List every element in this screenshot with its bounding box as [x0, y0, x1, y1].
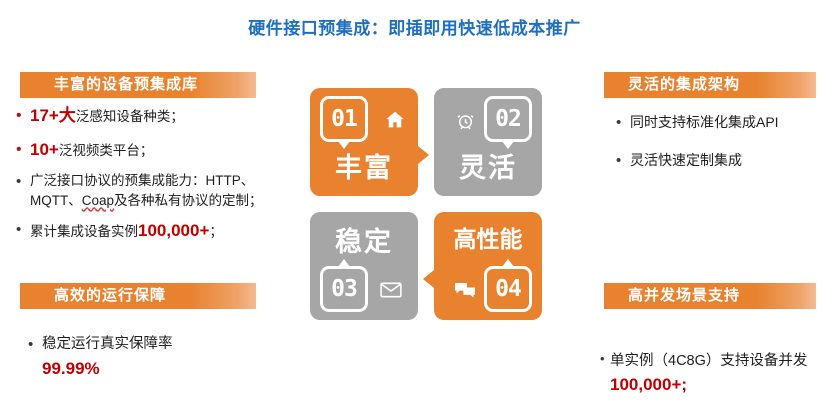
quadrant-01[interactable]: 01 丰富 [310, 88, 418, 196]
bullet-list-library: • 17+大泛感知设备种类； • 10+泛视频类平台； • 广泛接口协议的预集成… [16, 104, 288, 253]
list-item-text: 累计集成设备实例100,000+； [30, 219, 223, 244]
bullet-marker: • [16, 138, 30, 161]
quadrant-number-01: 01 [320, 96, 368, 142]
metric-value: 100,000+; [610, 375, 687, 394]
bullet-marker: • [16, 104, 30, 127]
metric-value: 99.99% [42, 359, 100, 378]
list-item-text: 单实例（4C8G）支持设备并发100,000+; [610, 350, 826, 399]
quadrant-02[interactable]: 02 灵活 [434, 88, 542, 196]
quadrant-03[interactable]: 03 稳定 [310, 212, 418, 320]
list-item-text: 17+大泛感知设备种类； [30, 104, 184, 129]
item-head: 单实例（4C8G）支持设备并发 [610, 353, 807, 369]
alarm-clock-icon [442, 98, 488, 142]
quadrant-label-01: 丰富 [310, 146, 418, 185]
item-tail: 泛视频类平台； [59, 143, 154, 158]
list-item-text: 同时支持标准化集成API [630, 112, 779, 132]
list-item-text: 稳定运行真实保障率99.99% [42, 334, 173, 382]
quadrant-label-02: 灵活 [434, 146, 542, 185]
section-header-concurrency: 高并发场景支持 [604, 283, 816, 309]
item-tail: 泛感知设备种类； [76, 109, 184, 124]
item-head: 稳定运行真实保障率 [42, 336, 173, 352]
metric-value: 10+ [30, 140, 59, 159]
list-item-text: 10+泛视频类平台； [30, 138, 153, 163]
list-item: • 17+大泛感知设备种类； [16, 104, 288, 129]
metric-value: 17+ [30, 106, 59, 125]
slide-canvas: 硬件接口预集成：即插即用快速低成本推广 丰富的设备预集成库 • 17+大泛感知设… [0, 0, 829, 415]
metric-value: 100,000+ [138, 221, 209, 240]
chat-bubble-icon [442, 268, 488, 312]
misspelled-word: Coap [82, 193, 114, 208]
bullet-marker: • [16, 219, 30, 241]
item-head: 累计集成设备实例 [30, 224, 138, 239]
quadrant-number-04: 04 [484, 266, 532, 312]
bullet-marker: • [616, 112, 630, 134]
bullet-list-architecture: • 同时支持标准化集成API • 灵活快速定制集成 [616, 112, 824, 188]
list-item: • 累计集成设备实例100,000+； [16, 219, 288, 244]
metric-unit: 大 [59, 106, 76, 125]
section-header-operations: 高效的运行保障 [20, 283, 256, 309]
page-title: 硬件接口预集成：即插即用快速低成本推广 [0, 14, 829, 39]
section-header-library: 丰富的设备预集成库 [20, 72, 256, 98]
envelope-icon [368, 268, 414, 312]
quadrant-01-pointer [418, 146, 429, 164]
quadrant-number-03: 03 [320, 266, 368, 312]
four-quadrant-diagram: 01 丰富 02 灵活 03 [310, 88, 542, 326]
quadrant-label-03: 稳定 [310, 220, 418, 259]
list-item-text: 灵活快速定制集成 [630, 150, 742, 170]
item-tail: ； [209, 224, 223, 239]
bullet-marker: • [28, 334, 42, 356]
bullet-list-operations: • 稳定运行真实保障率99.99% [28, 334, 288, 391]
quadrant-number-02: 02 [484, 96, 532, 142]
bullet-marker: • [16, 171, 30, 193]
list-item: • 广泛接口协议的预集成能力：HTTP、MQTT、Coap及各种私有协议的定制； [16, 171, 288, 210]
list-item: • 稳定运行真实保障率99.99% [28, 334, 288, 382]
quadrant-label-04: 高性能 [434, 220, 542, 254]
list-item: • 灵活快速定制集成 [616, 150, 824, 172]
quadrant-04-pointer [423, 270, 434, 288]
bullet-marker: • [600, 350, 610, 369]
bullet-marker: • [616, 150, 630, 172]
bullet-list-concurrency: • 单实例（4C8G）支持设备并发100,000+; [600, 350, 826, 408]
quadrant-04[interactable]: 04 高性能 [434, 212, 542, 320]
list-item-text: 广泛接口协议的预集成能力：HTTP、MQTT、Coap及各种私有协议的定制； [30, 171, 288, 210]
list-item: • 同时支持标准化集成API [616, 112, 824, 134]
list-item: • 单实例（4C8G）支持设备并发100,000+; [600, 350, 826, 399]
list-item: • 10+泛视频类平台； [16, 138, 288, 163]
home-icon [372, 98, 418, 142]
item-tail: 及各种私有协议的定制； [114, 193, 263, 208]
section-header-architecture: 灵活的集成架构 [604, 72, 816, 98]
